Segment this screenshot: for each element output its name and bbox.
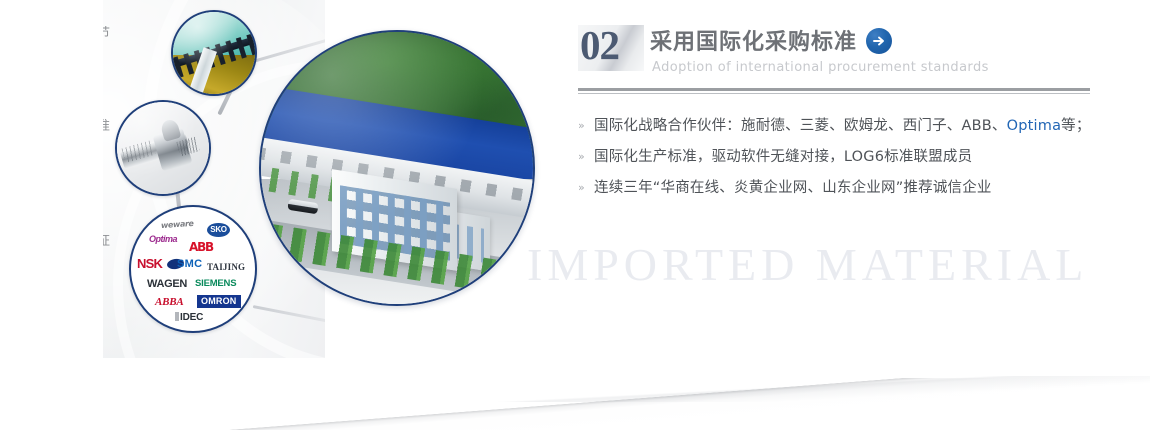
feature-list: » 国际化战略合作伙伴：施耐德、三菱、欧姆龙、西门子、ABB、Optima等； … [578,117,1098,197]
list-item: » 国际化生产标准，驱动软件无缝对接，LOG6标准联盟成员 [578,148,1098,166]
saw-blade-macro-photo [171,10,257,96]
logo-wagen: WAGEN [147,279,187,290]
label-european-standard: 欧洲标准 [103,115,111,134]
list-item-text-main: 连续三年“华商在线、炎黄企业网、山东企业网”推荐诚信企业 [594,180,992,196]
list-item-text: 连续三年“华商在线、炎黄企业网、山东企业网”推荐诚信企业 [594,179,992,197]
arrow-right-circle-icon[interactable] [866,28,892,54]
bottom-shadow-swoosh [0,378,1150,430]
label-quality-assurance: 品质保证 [103,230,111,249]
list-item-text: 国际化战略合作伙伴：施耐德、三菱、欧姆龙、西门子、ABB、Optima等； [594,117,1091,135]
promo-banner: weware SKO Optima ABB NSK SMC TAIJING WA… [0,0,1150,430]
logo-abba: ABBA [155,297,184,308]
logo-weware: weware [161,220,194,230]
photo-gloss [261,32,533,304]
list-item-text-tail: 等； [1061,118,1090,134]
ball-screw-photo [115,100,211,196]
header-divider [578,88,1090,95]
logo-siemens: SIEMENS [195,279,236,289]
chevron-right-icon: » [578,117,594,135]
logo-smc: SMC [177,259,202,270]
factory-aerial-photo [259,30,535,306]
chevron-right-icon: » [578,148,594,166]
section-number: 02 [580,21,619,69]
logo-sko: SKO [207,223,230,237]
logo-idec-text: IDEC [180,312,203,323]
chevron-right-icon: » [578,179,594,197]
section-header: 02 采用国际化采购标准 Adoption of international p… [578,22,1098,82]
logo-taijing: TAIJING [207,263,245,272]
list-item-highlight: Optima [1007,118,1062,134]
logo-abb: ABB [189,241,213,253]
page-title: 采用国际化采购标准 [650,24,857,56]
list-item: » 连续三年“华商在线、炎黄企业网、山东企业网”推荐诚信企业 [578,179,1098,197]
list-item-text-main: 国际化战略合作伙伴：施耐德、三菱、欧姆龙、西门子、ABB、 [594,118,1007,134]
bottom-highlight [0,376,1150,402]
list-item-text: 国际化生产标准，驱动软件无缝对接，LOG6标准联盟成员 [594,148,972,166]
list-item-text-main: 国际化生产标准，驱动软件无缝对接，LOG6标准联盟成员 [594,149,972,165]
list-item: » 国际化战略合作伙伴：施耐德、三菱、欧姆龙、西门子、ABB、Optima等； [578,117,1098,135]
logo-idec: IDEC [175,312,203,323]
label-precision-detail: 精密细节 [103,22,111,41]
brand-logo-collage: weware SKO Optima ABB NSK SMC TAIJING WA… [129,205,257,333]
content-column: 02 采用国际化采购标准 Adoption of international p… [578,22,1098,210]
watermark-text: IMPORTED MATERIAL [527,238,1088,291]
logo-omron: OMRON [197,295,241,308]
page-subtitle: Adoption of international procurement st… [652,60,989,75]
connector-line-bottom [253,305,325,329]
logo-nsk: NSK [137,257,162,270]
photo-gloss [117,102,209,194]
photo-gloss [173,12,255,94]
logo-optima: Optima [149,235,177,244]
